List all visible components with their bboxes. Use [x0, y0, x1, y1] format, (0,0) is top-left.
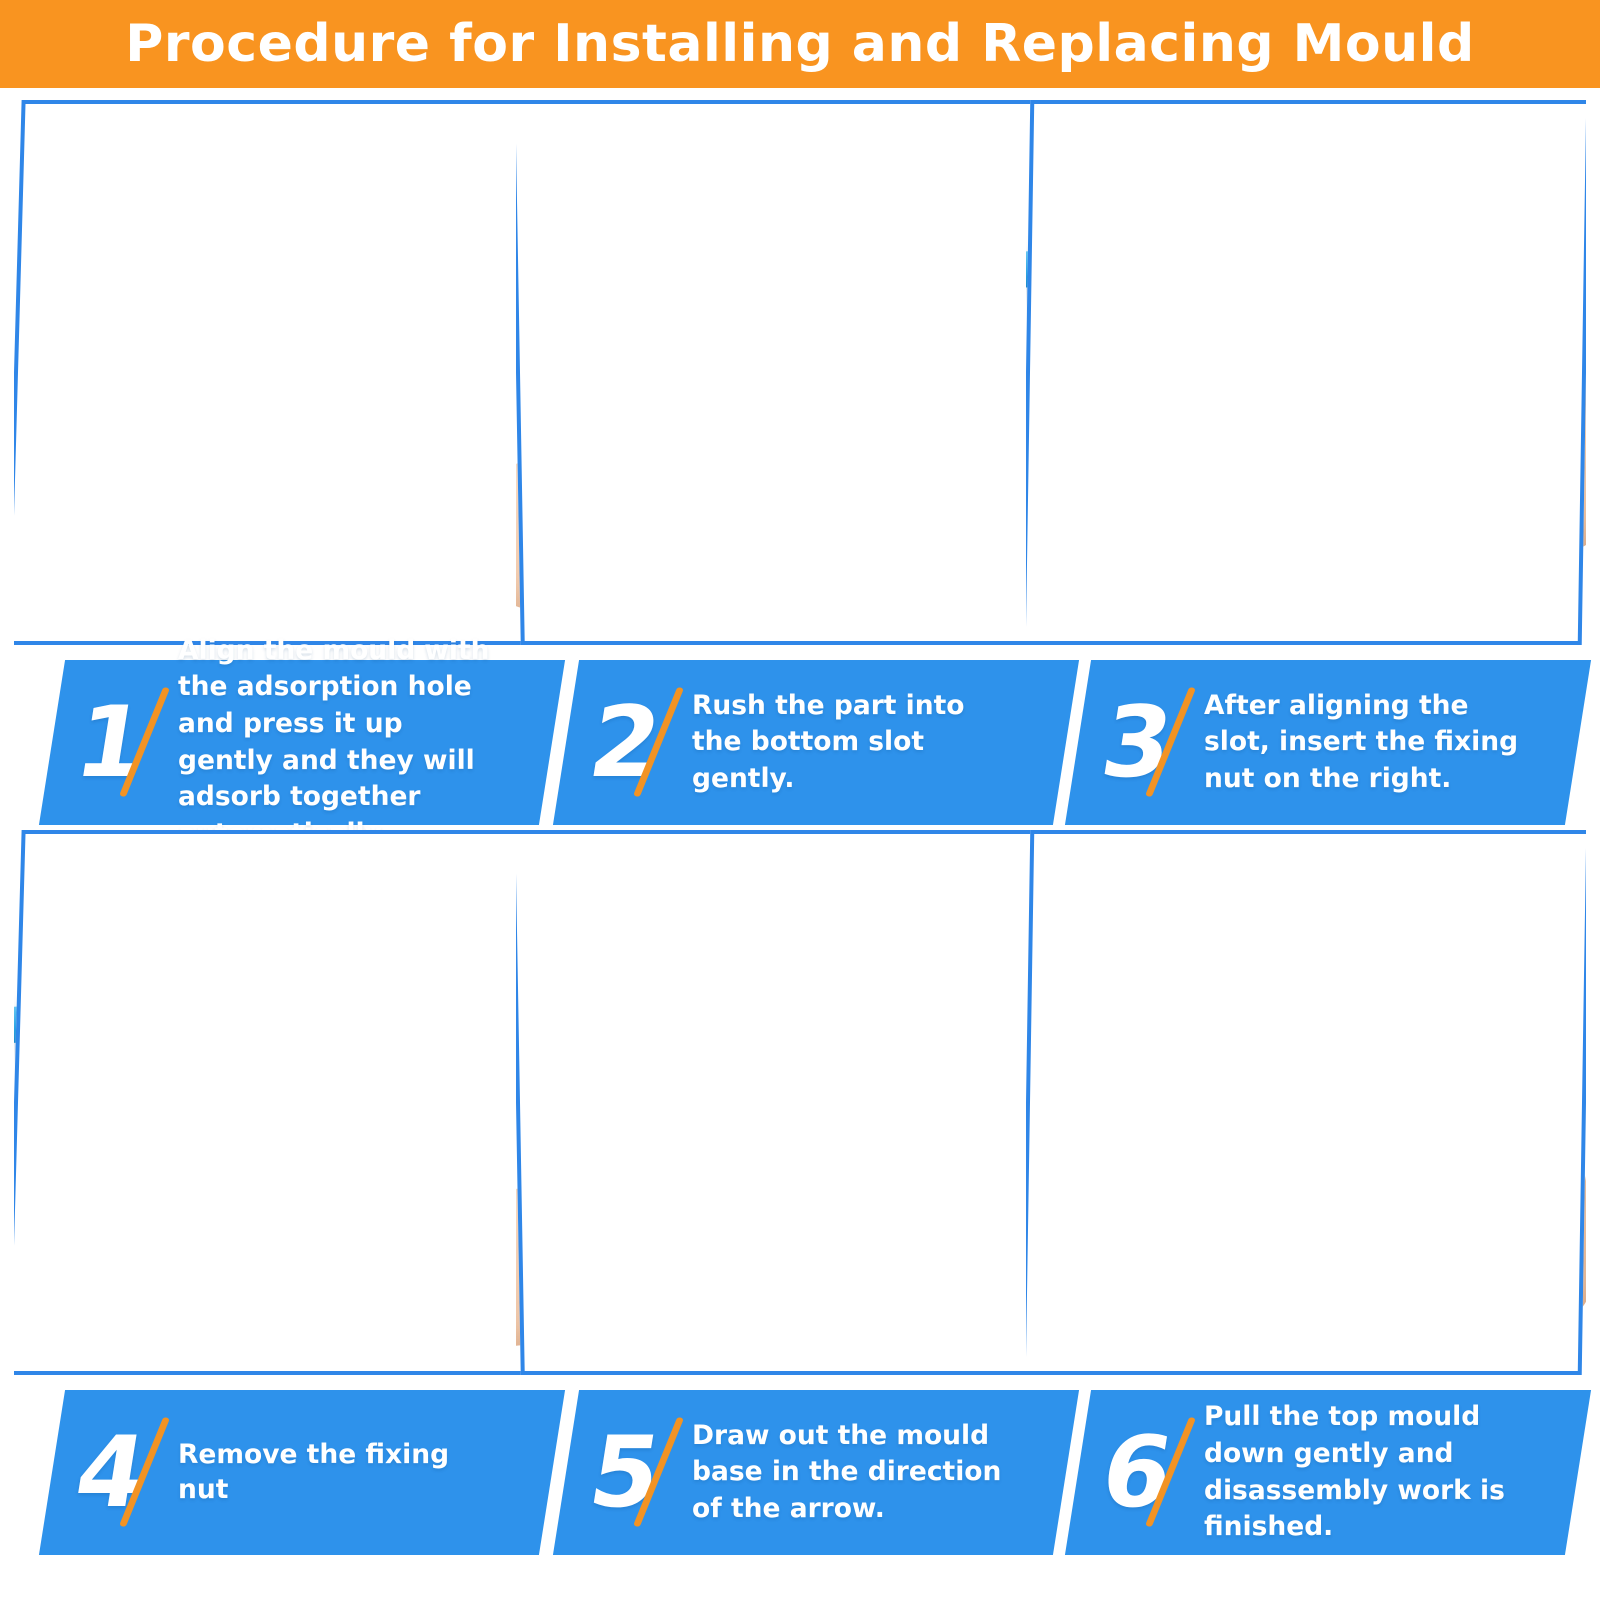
step-number-4: 4 [52, 1390, 164, 1555]
step-photo-6[interactable] [1026, 830, 1586, 1375]
step-caption-5[interactable]: 5 Draw out the mould base in the directi… [566, 1390, 1066, 1555]
step-text-2: Rush the part into the bottom slot gentl… [678, 688, 1066, 798]
header-banner: Procedure for Installing and Replacing M… [0, 0, 1600, 88]
step-caption-6[interactable]: 6 Pull the top mould down gently and dis… [1078, 1390, 1578, 1555]
step-photo-1[interactable] [14, 100, 562, 645]
photo-frame-4 [14, 830, 562, 1375]
step-text-3: After aligning the slot, insert the fixi… [1190, 688, 1578, 798]
step-photo-5[interactable] [516, 830, 1072, 1375]
step-photo-2[interactable] [516, 100, 1072, 645]
step-caption-3[interactable]: 3 After aligning the slot, insert the fi… [1078, 660, 1578, 825]
step-text-5: Draw out the mould base in the direction… [678, 1418, 1066, 1528]
step-number-2: 2 [566, 660, 678, 825]
instruction-poster: Procedure for Installing and Replacing M… [0, 0, 1600, 1600]
step-photo-3[interactable] [1026, 100, 1586, 645]
caption-row-top: 1 Align the mould with the adsorption ho… [0, 660, 1600, 825]
step-text-4: Remove the fixing nut [164, 1438, 552, 1507]
photo-frame-1 [14, 100, 562, 645]
caption-row-bottom: 4 Remove the fixing nut 5 Draw out the m… [0, 1390, 1600, 1555]
step-number-5: 5 [566, 1390, 678, 1555]
photo-frame-6 [1026, 830, 1586, 1375]
photo-row-bottom [0, 830, 1600, 1375]
step-photo-4[interactable] [14, 830, 562, 1375]
step-caption-4[interactable]: 4 Remove the fixing nut [52, 1390, 552, 1555]
photo-frame-2 [516, 100, 1072, 645]
photo-row-top [0, 100, 1600, 645]
step-number-3: 3 [1078, 660, 1190, 825]
step-text-6: Pull the top mould down gently and disas… [1190, 1399, 1578, 1545]
step-text-1: Align the mould with the adsorption hole… [164, 633, 552, 852]
photo-frame-3 [1026, 100, 1586, 645]
step-number-1: 1 [52, 660, 164, 825]
photo-frame-5 [516, 830, 1072, 1375]
step-caption-2[interactable]: 2 Rush the part into the bottom slot gen… [566, 660, 1066, 825]
step-number-6: 6 [1078, 1390, 1190, 1555]
step-caption-1[interactable]: 1 Align the mould with the adsorption ho… [52, 660, 552, 825]
page-title: Procedure for Installing and Replacing M… [0, 0, 1600, 88]
